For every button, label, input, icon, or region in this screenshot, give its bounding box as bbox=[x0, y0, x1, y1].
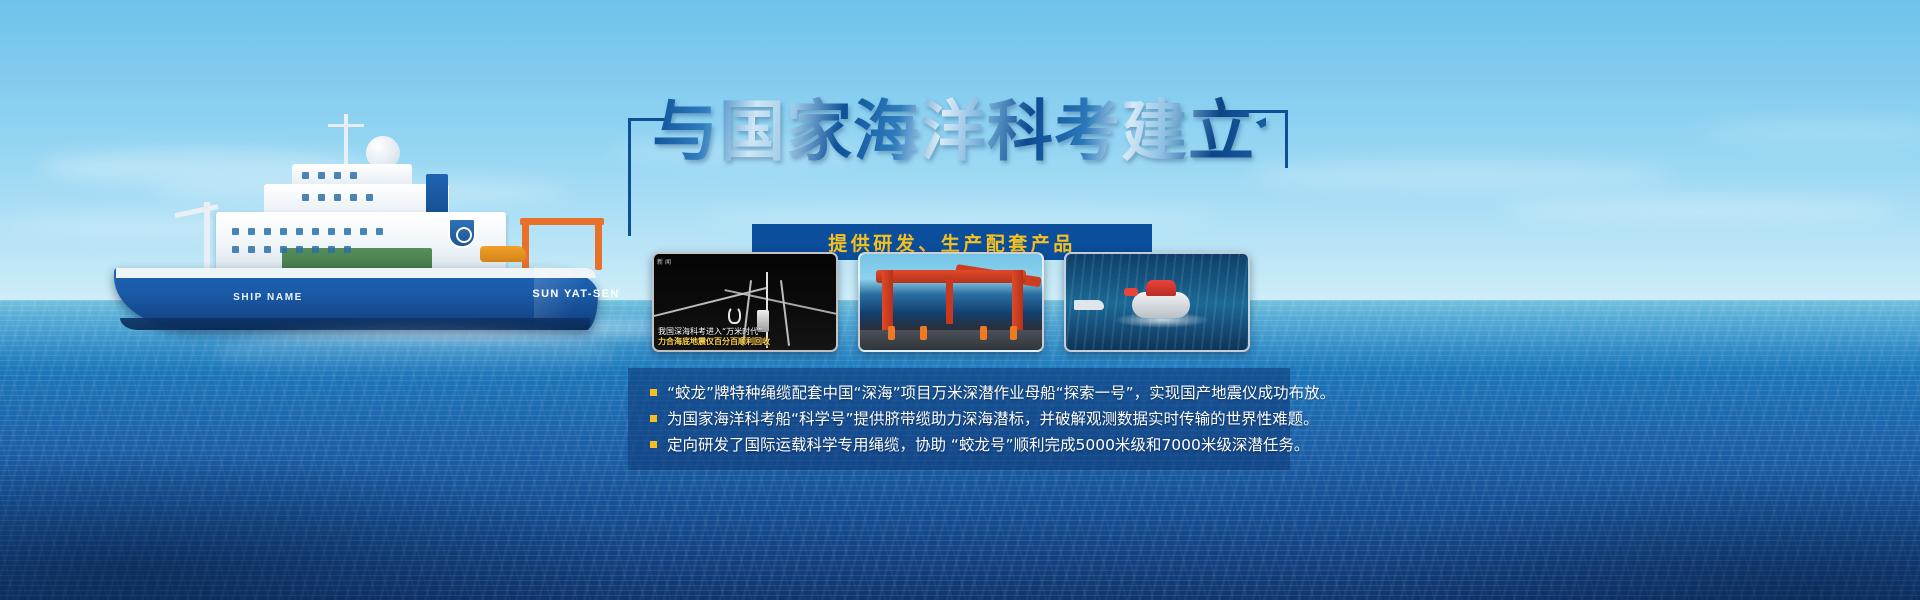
a-frame-top-bar bbox=[520, 218, 604, 225]
thumbnail-caption-top: 我国深海科考进入“万米时代” bbox=[658, 327, 832, 337]
crew-member bbox=[980, 326, 987, 340]
ship-side-name: SHIP NAME bbox=[208, 292, 328, 303]
bracket-left-line bbox=[628, 118, 631, 236]
mast bbox=[344, 114, 348, 168]
list-item: 为国家海洋科考船“科学号”提供脐带缆助力深海潜标，并破解观测数据实时传输的世界性… bbox=[628, 406, 1290, 432]
crane-mast bbox=[204, 202, 210, 270]
crane-arm bbox=[174, 204, 218, 218]
cloud bbox=[1700, 120, 1920, 144]
list-item-text: 为国家海洋科考船“科学号”提供脐带缆助力深海潜标，并破解观测数据实时传输的世界性… bbox=[667, 408, 1319, 430]
window-row bbox=[302, 172, 357, 179]
research-vessel: SUN YAT-SEN SHIP NAME bbox=[96, 140, 616, 360]
list-item-text: 定向研发了国际运载科学专用绳缆，协助 “蛟龙号”顺利完成5000米级和7000米… bbox=[667, 434, 1309, 456]
hull-white-stripe bbox=[116, 268, 596, 278]
highlights-panel: “蛟龙”牌特种绳缆配套中国“深海”项目万米深潜作业母船“探索一号”，实现国产地震… bbox=[628, 368, 1290, 470]
thumbnail-tag: 新闻 bbox=[657, 257, 673, 266]
crew-member bbox=[1010, 326, 1017, 340]
gantry-right-leg bbox=[1012, 270, 1023, 332]
window-row bbox=[232, 246, 351, 253]
cloud bbox=[1500, 196, 1900, 222]
window-row bbox=[302, 194, 373, 201]
thumbnail-caption-bottom: 力合海底地震仪百分百顺利回收 bbox=[658, 337, 832, 347]
thumbnail-gallery: 新闻 我国深海科考进入“万米时代” 力合海底地震仪百分百顺利回收 bbox=[652, 252, 1250, 352]
window-row bbox=[232, 228, 383, 235]
list-item: 定向研发了国际运载科学专用绳缆，协助 “蛟龙号”顺利完成5000米级和7000米… bbox=[628, 432, 1290, 458]
water-shadow-left bbox=[0, 450, 640, 600]
support-boat bbox=[1074, 300, 1104, 310]
water-shadow-right bbox=[1360, 470, 1920, 600]
a-frame-gantry bbox=[520, 218, 604, 270]
bullet-square-icon bbox=[650, 441, 657, 448]
crew-member bbox=[920, 326, 927, 340]
crew-member bbox=[888, 326, 895, 340]
gantry-center-strut bbox=[946, 276, 953, 324]
hook-icon bbox=[728, 306, 741, 324]
bullet-square-icon bbox=[650, 415, 657, 422]
thumbnail-deep-sea-seismograph-recovery[interactable]: 新闻 我国深海科考进入“万米时代” 力合海底地震仪百分百顺利回收 bbox=[652, 252, 838, 352]
thumbnail-manned-submersible-recovery[interactable] bbox=[1064, 252, 1250, 352]
bullet-square-icon bbox=[650, 389, 657, 396]
gantry-left-leg bbox=[882, 270, 893, 332]
page-title: 与国家海洋科考建立合作 bbox=[652, 96, 1266, 168]
title-block: 与国家海洋科考建立合作 bbox=[628, 96, 1288, 192]
a-frame-left-leg bbox=[522, 218, 529, 270]
list-item: “蛟龙”牌特种绳缆配套中国“深海”项目万米深潜作业母船“探索一号”，实现国产地震… bbox=[628, 380, 1290, 406]
submersible-fin bbox=[1124, 288, 1138, 296]
thumbnail-red-gantry-crane-deck[interactable] bbox=[858, 252, 1044, 352]
mast-crossbar bbox=[328, 124, 364, 127]
ship-reflection bbox=[216, 328, 616, 380]
lifeboat bbox=[480, 246, 526, 262]
ship-hull-name: SUN YAT-SEN bbox=[516, 288, 636, 300]
a-frame-right-leg bbox=[595, 218, 602, 270]
submersible-sail bbox=[1146, 280, 1176, 296]
list-item-text: “蛟龙”牌特种绳缆配套中国“深海”项目万米深潜作业母船“探索一号”，实现国产地震… bbox=[667, 382, 1335, 404]
hull-waterline bbox=[120, 318, 590, 330]
ship-emblem-icon bbox=[448, 218, 476, 248]
ocean-research-banner: SUN YAT-SEN SHIP NAME 与国家海洋科考建立合作 提供研发、生… bbox=[0, 0, 1920, 600]
